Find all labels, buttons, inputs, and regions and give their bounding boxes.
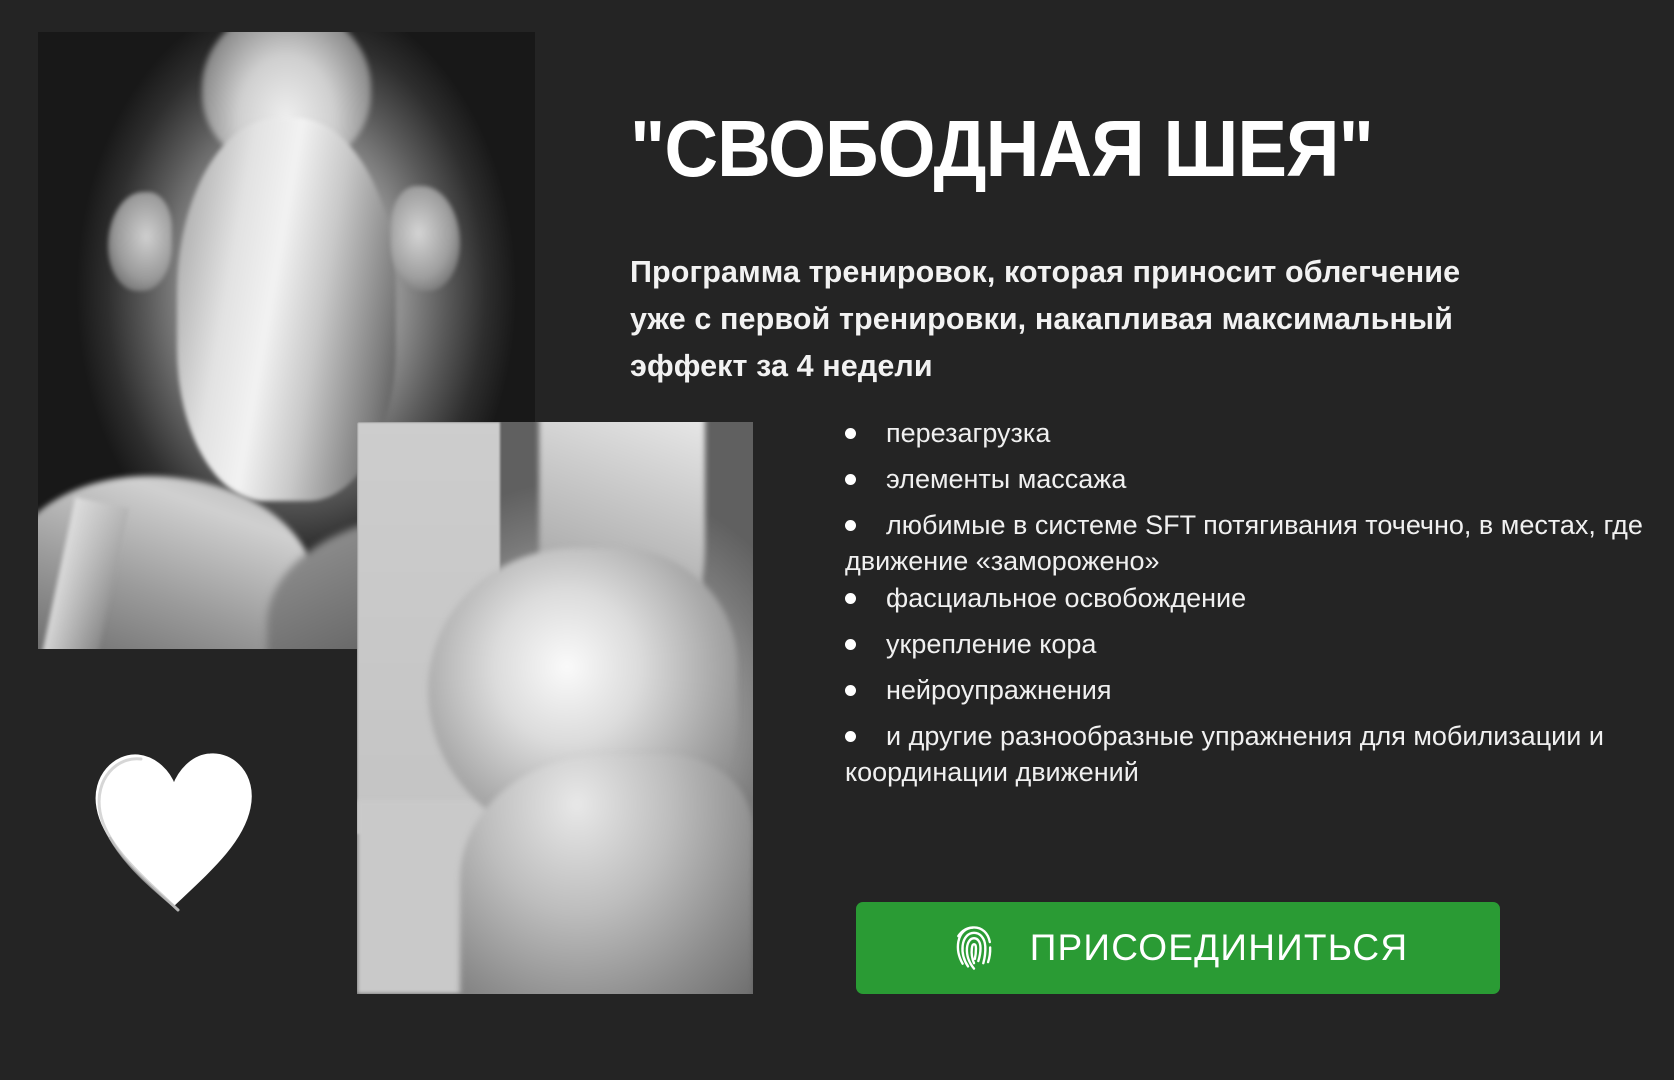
feature-list: перезагрузка элементы массажа любимые в … bbox=[845, 415, 1655, 791]
bullet-dot-icon bbox=[845, 428, 856, 439]
page-title: "СВОБОДНАЯ ШЕЯ" bbox=[630, 109, 1569, 189]
photo-highlight-ear-right bbox=[391, 186, 461, 291]
photo-highlight-ear-left bbox=[108, 192, 173, 291]
bullet-dot-icon bbox=[845, 474, 856, 485]
bullet-dot-icon bbox=[845, 685, 856, 696]
list-item-label: укрепление кора bbox=[886, 626, 1655, 662]
list-item-label: перезагрузка bbox=[886, 415, 1655, 451]
heart-doodle bbox=[86, 742, 261, 912]
list-item-label: и другие разнообразные упражнения для мо… bbox=[845, 718, 1655, 791]
list-item: укрепление кора bbox=[845, 626, 1655, 672]
bullet-dot-icon bbox=[845, 639, 856, 650]
neck-shoulder-closeup-photo bbox=[357, 422, 753, 994]
fingerprint-icon bbox=[948, 922, 1000, 974]
list-item: нейроупражнения bbox=[845, 672, 1655, 718]
list-item-label: фасциальное освобождение bbox=[886, 580, 1655, 616]
list-item-label: нейроупражнения bbox=[886, 672, 1655, 708]
promo-banner: "СВОБОДНАЯ ШЕЯ" Программа тренировок, ко… bbox=[0, 0, 1674, 1080]
photo-highlight-shoulder bbox=[460, 754, 753, 994]
list-item: фасциальное освобождение bbox=[845, 580, 1655, 626]
list-item: и другие разнообразные упражнения для мо… bbox=[845, 718, 1655, 791]
list-item: элементы массажа bbox=[845, 461, 1655, 507]
list-item-label: элементы массажа bbox=[886, 461, 1655, 497]
list-item: любимые в системе SFT потягивания точечн… bbox=[845, 507, 1655, 580]
bullet-dot-icon bbox=[845, 593, 856, 604]
join-button[interactable]: ПРИСОЕДИНИТЬСЯ bbox=[856, 902, 1500, 994]
list-item: перезагрузка bbox=[845, 415, 1655, 461]
list-item-label: любимые в системе SFT потягивания точечн… bbox=[845, 507, 1655, 580]
join-button-label: ПРИСОЕДИНИТЬСЯ bbox=[1030, 927, 1409, 969]
hero-subtitle: Программа тренировок, которая приносит о… bbox=[630, 249, 1520, 391]
